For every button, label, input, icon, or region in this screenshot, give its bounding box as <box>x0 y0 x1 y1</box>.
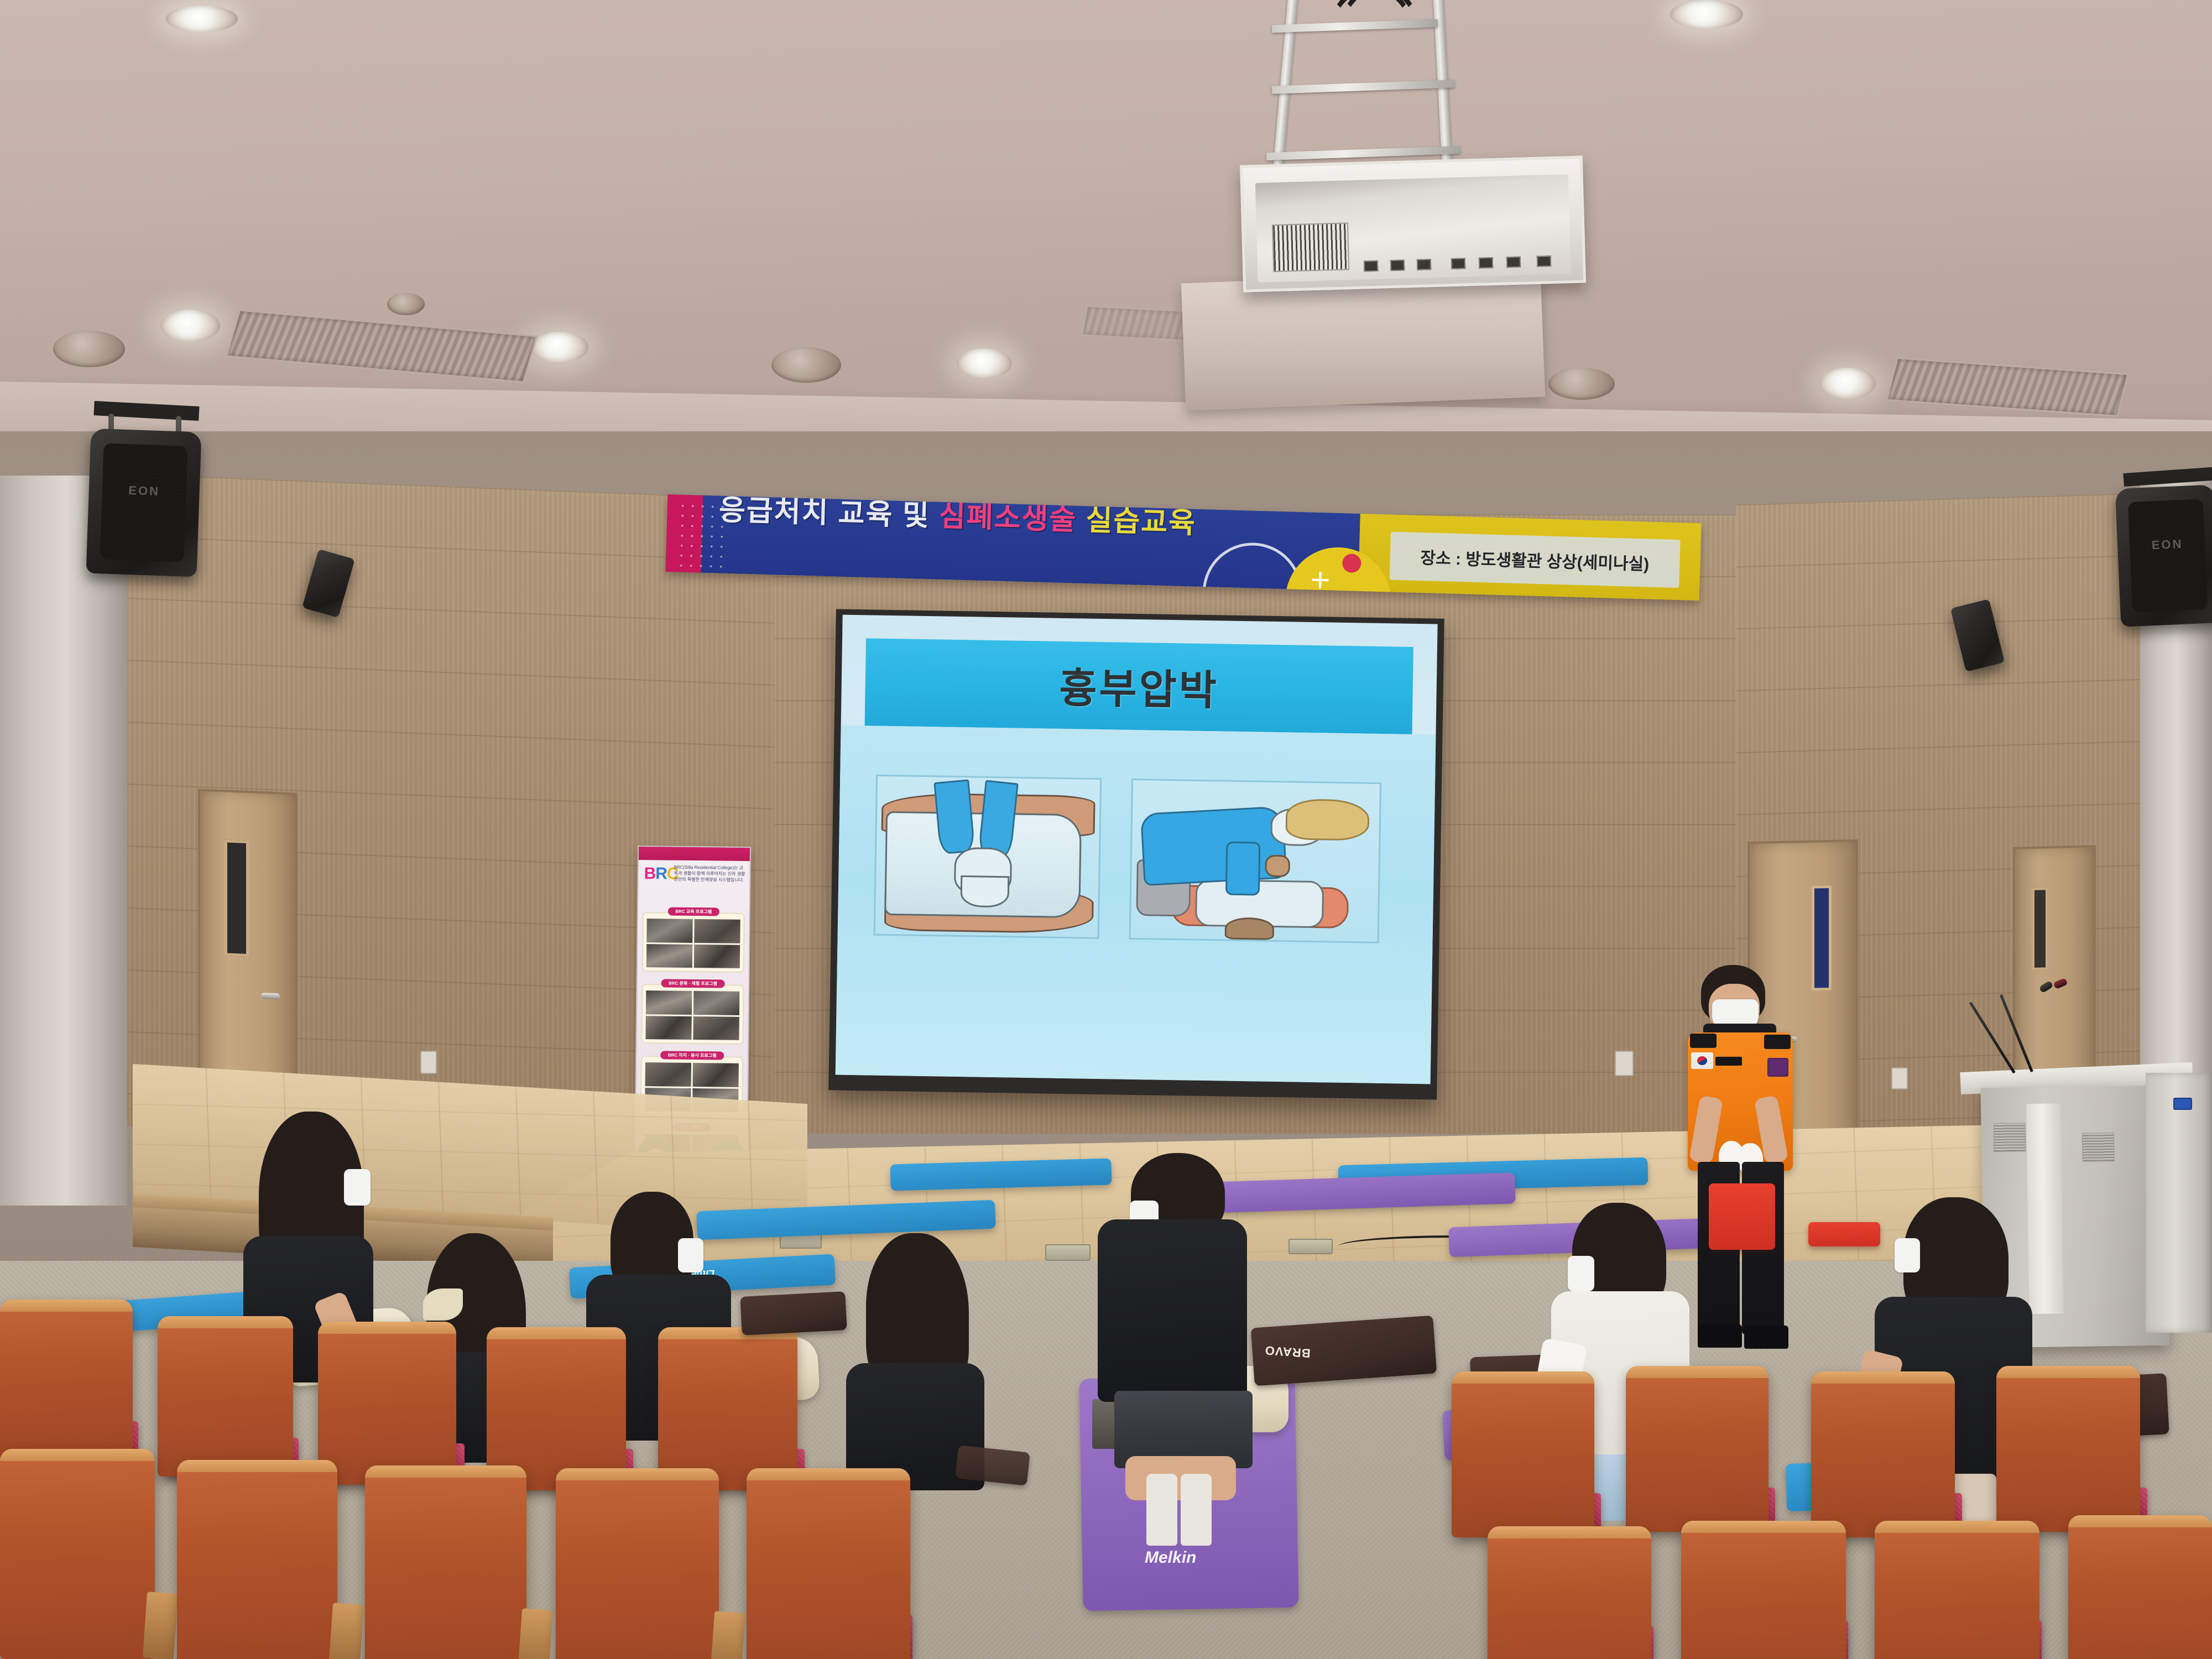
auditorium-seat[interactable] <box>1452 1371 1594 1537</box>
hair-bow <box>423 1288 463 1321</box>
downlight-icon <box>160 310 220 342</box>
banner-title-part2: 심폐소생술 <box>938 500 1086 536</box>
rollup-photo-grid <box>646 919 740 968</box>
auditorium-seat[interactable] <box>556 1468 719 1659</box>
pillar-left <box>0 476 127 1206</box>
speaker-brand-label: EON <box>128 483 160 499</box>
rollup-photo <box>646 919 692 942</box>
speaker-brand-label: EON <box>2151 537 2183 552</box>
downlight-icon <box>1670 0 1743 29</box>
fire-service-badge-icon <box>1767 1058 1788 1077</box>
downlight-icon <box>166 6 238 32</box>
auditorium-scene: EON EON 응급처치 교육 및 심폐소생술 실습교육 장소 : 방도생활관 … <box>0 0 2212 1659</box>
rescuer-sleeve-left <box>934 779 976 854</box>
ceiling-speaker-icon <box>1548 368 1615 400</box>
rollup-photo <box>693 991 739 1015</box>
participant-face-mask <box>678 1238 703 1272</box>
seat-armrest <box>143 1592 178 1659</box>
auditorium-seat[interactable] <box>1488 1526 1651 1659</box>
rollup-photo-grid <box>645 990 739 1040</box>
auditorium-seat[interactable] <box>318 1322 456 1485</box>
auditorium-seat[interactable] <box>0 1300 133 1460</box>
speaker-grill <box>2127 499 2208 613</box>
participant-shoe-left <box>1146 1474 1177 1546</box>
projector-ceiling-panel <box>1181 270 1545 411</box>
eon-speaker-left: EON <box>86 429 201 577</box>
slide-title: 흉부압박 <box>1059 655 1219 717</box>
seat-armrest <box>328 1603 364 1659</box>
speaker-grill <box>100 444 187 562</box>
rescuer-arm-shape <box>1225 842 1261 896</box>
eon-speaker-right: EON <box>2115 484 2212 627</box>
victim-head-shape <box>1224 917 1274 940</box>
bag-brand-label: BRAVO <box>1264 1343 1311 1360</box>
rollup-photo <box>693 1016 739 1040</box>
rollup-photo <box>646 944 692 968</box>
rollup-section-label: BRC 자치 · 봉사 프로그램 <box>660 1051 724 1060</box>
rollup-photo <box>645 1062 691 1086</box>
auditorium-seat[interactable] <box>658 1327 797 1490</box>
door-handle[interactable] <box>261 993 280 999</box>
auditorium-seat[interactable] <box>0 1449 155 1659</box>
banner-plus-graphic <box>1312 572 1329 589</box>
ceiling-speaker-icon <box>53 331 125 367</box>
auditorium-seat[interactable] <box>1996 1366 2140 1532</box>
wall-outlet[interactable] <box>1615 1051 1634 1076</box>
rollup-banner-header <box>639 847 750 861</box>
stage-floor-socket[interactable] <box>1288 1239 1333 1254</box>
brc-logo-b: B <box>644 864 655 883</box>
rescuer-hair-shape <box>1285 799 1370 841</box>
auditorium-seat[interactable] <box>2068 1515 2212 1659</box>
brc-logo: BRC <box>644 864 678 884</box>
seat-armrest <box>710 1611 745 1659</box>
banner-venue-plate: 장소 : 방도생활관 상상(세미나실) <box>1390 531 1681 587</box>
instructor-epaulette-left <box>1690 1034 1717 1048</box>
auditorium-seat[interactable] <box>158 1316 293 1477</box>
wall-outlet[interactable] <box>420 1051 437 1074</box>
downlight-icon <box>957 348 1012 378</box>
rollup-section: BRC 문화 · 체험 프로그램 <box>641 984 744 1045</box>
banner-venue-label: 장소 : 방도생활관 상상(세미나실) <box>1420 544 1650 575</box>
stage-floor-socket[interactable] <box>1045 1244 1091 1261</box>
door-window <box>1812 885 1832 991</box>
lectern-vent <box>1994 1123 2026 1152</box>
seat-armrest <box>518 1608 553 1659</box>
illustration-kneeling-rescuer <box>1129 779 1381 943</box>
auditorium-seat[interactable] <box>1811 1371 1955 1537</box>
rollup-section-label: BRC 문화 · 체험 프로그램 <box>661 979 725 988</box>
lectern-vent <box>2082 1133 2115 1162</box>
participant-torso <box>1098 1219 1247 1402</box>
rollup-photo <box>645 1016 691 1040</box>
downlight-icon <box>1819 368 1876 399</box>
participant-5 <box>1098 1153 1280 1496</box>
ceiling-speaker-icon <box>771 347 841 383</box>
rollup-photo <box>693 1063 739 1087</box>
door-window <box>2032 887 2048 971</box>
slide-body <box>836 725 1436 1084</box>
auditorium-seat[interactable] <box>747 1468 910 1659</box>
mat-brand-label: Melkin <box>1145 1548 1196 1567</box>
participant-face-mask <box>1895 1238 1920 1272</box>
korean-flag-patch-icon <box>1691 1052 1713 1069</box>
slide-title-banner: 흉부압박 <box>865 638 1413 734</box>
rollup-photo <box>694 945 740 968</box>
rollup-photo <box>694 919 740 943</box>
brc-logo-r: R <box>655 864 667 883</box>
banner-title-part3: 실습교육 <box>1086 504 1197 540</box>
first-aid-case-red-flat <box>1808 1222 1880 1246</box>
rollup-photo <box>646 990 692 1014</box>
auditorium-seat[interactable] <box>1626 1366 1768 1532</box>
participant-face-mask <box>344 1169 371 1206</box>
rescuer-torso-shape <box>1140 806 1287 886</box>
rollup-section: BRC 교육 프로그램 <box>642 912 745 973</box>
auditorium-seat[interactable] <box>365 1465 526 1659</box>
victim-arm-shape <box>1265 855 1290 878</box>
wall-outlet[interactable] <box>1891 1067 1908 1089</box>
rescuer-fingers-shape <box>960 875 1010 907</box>
projector-vent-grill <box>1272 222 1349 272</box>
rollup-description: BRC(Silla Residential College)는 교육과 생활이 … <box>674 865 746 884</box>
screen-surface: 흉부압박 <box>836 615 1438 1084</box>
equipment-rack-cabinet <box>2146 1073 2212 1333</box>
floor-bag <box>740 1291 847 1335</box>
instructor-name-tag <box>1715 1057 1742 1066</box>
door-window <box>225 839 249 957</box>
auditorium-seat[interactable] <box>177 1460 337 1659</box>
instructor-epaulette-right <box>1764 1035 1791 1049</box>
participant-face-mask <box>1568 1256 1594 1291</box>
instructor-boot-right <box>1744 1326 1788 1349</box>
auditorium-seat[interactable] <box>1681 1521 1846 1659</box>
illustration-hands-on-chest <box>873 775 1102 939</box>
projector <box>1240 155 1586 292</box>
sprinkler-icon <box>387 293 425 315</box>
rollup-section-label: BRC 교육 프로그램 <box>667 907 719 916</box>
participant-shoe-right <box>1181 1474 1212 1546</box>
rack-blue-indicator <box>2173 1098 2192 1110</box>
projection-screen: 흉부압박 <box>828 609 1444 1099</box>
downlight-icon <box>531 332 588 363</box>
auditorium-seat[interactable] <box>1875 1521 2039 1659</box>
